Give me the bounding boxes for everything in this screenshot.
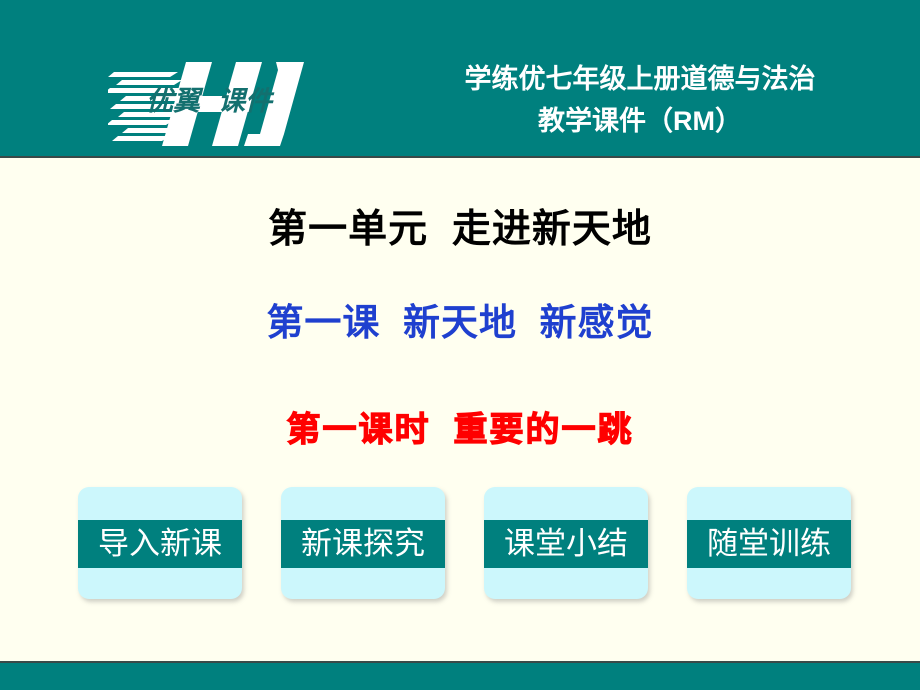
presentation-slide: 优翼 课件 学练优七年级上册道德与法治 教学课件（RM） 第一单元 走进新天地 … <box>0 0 920 690</box>
nav-button-band: 新课探究 <box>281 520 445 568</box>
nav-button-band: 随堂训练 <box>687 520 851 568</box>
lesson-title: 第一课 新天地 新感觉 <box>0 292 920 346</box>
slide-header: 优翼 课件 学练优七年级上册道德与法治 教学课件（RM） <box>0 0 920 158</box>
youyi-courseware-logo: 优翼 课件 <box>108 48 318 152</box>
period-title: 第一课时 重要的一跳 <box>0 402 920 451</box>
logo-text-right: 课件 <box>218 86 275 116</box>
nav-button-daoruxinke[interactable]: 导入新课 <box>78 487 242 599</box>
header-title-line2: 教学课件（RM） <box>400 100 880 142</box>
nav-button-band: 导入新课 <box>78 520 242 568</box>
nav-button-label: 随堂训练 <box>707 520 831 568</box>
nav-button-ketangxiaojie[interactable]: 课堂小结 <box>484 487 648 599</box>
header-title: 学练优七年级上册道德与法治 教学课件（RM） <box>400 58 880 142</box>
slide-footer <box>0 661 920 690</box>
nav-button-label: 导入新课 <box>98 520 222 568</box>
header-title-line1: 学练优七年级上册道德与法治 <box>465 64 816 94</box>
nav-button-xinketanjiu[interactable]: 新课探究 <box>281 487 445 599</box>
nav-button-suitangxunlian[interactable]: 随堂训练 <box>687 487 851 599</box>
nav-button-label: 新课探究 <box>301 520 425 568</box>
unit-title: 第一单元 走进新天地 <box>0 198 920 254</box>
nav-button-label: 课堂小结 <box>504 520 628 568</box>
nav-button-band: 课堂小结 <box>484 520 648 568</box>
logo-text-left: 优翼 <box>146 86 204 116</box>
navigation-button-bar: 导入新课 新课探究 课堂小结 随堂训练 <box>0 487 920 599</box>
